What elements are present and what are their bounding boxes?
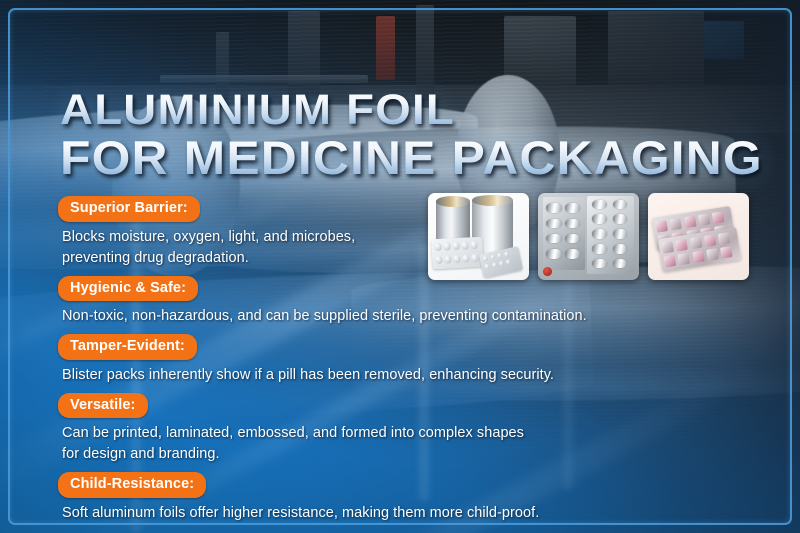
- list-item: Hygienic & Safe: Non-toxic, non-hazardou…: [58, 276, 718, 328]
- feature-text-child-resistance: Soft aluminum foils offer higher resista…: [62, 503, 718, 524]
- title-line-1: ALUMINIUM FOIL: [60, 88, 800, 133]
- red-dot-marker: [543, 267, 552, 276]
- feature-badge-child-resistance: Child-Resistance:: [58, 472, 206, 498]
- list-item: Child-Resistance: Soft aluminum foils of…: [58, 472, 718, 524]
- title-line-2: FOR MEDICINE PACKAGING: [60, 133, 800, 183]
- feature-badge-hygienic-safe: Hygienic & Safe:: [58, 276, 198, 302]
- product-thumbnail-strip: [428, 193, 749, 280]
- list-item: Versatile: Can be printed, laminated, em…: [58, 393, 718, 466]
- list-item: Tamper-Evident: Blister packs inherently…: [58, 334, 718, 386]
- feature-badge-versatile: Versatile:: [58, 393, 148, 419]
- product-image-blister-sheets: [538, 193, 639, 280]
- feature-badge-tamper-evident: Tamper-Evident:: [58, 334, 197, 360]
- feature-badge-superior-barrier: Superior Barrier:: [58, 196, 200, 222]
- feature-text-versatile: Can be printed, laminated, embossed, and…: [62, 423, 718, 465]
- product-image-blister-strips: [648, 193, 749, 280]
- poster: ALUMINIUM FOIL FOR MEDICINE PACKAGING Su…: [0, 0, 800, 533]
- feature-text-tamper-evident: Blister packs inherently show if a pill …: [62, 365, 718, 386]
- product-image-foil-rolls: [428, 193, 529, 280]
- feature-text-hygienic-safe: Non-toxic, non-hazardous, and can be sup…: [62, 306, 718, 327]
- page-title: ALUMINIUM FOIL FOR MEDICINE PACKAGING: [60, 88, 760, 183]
